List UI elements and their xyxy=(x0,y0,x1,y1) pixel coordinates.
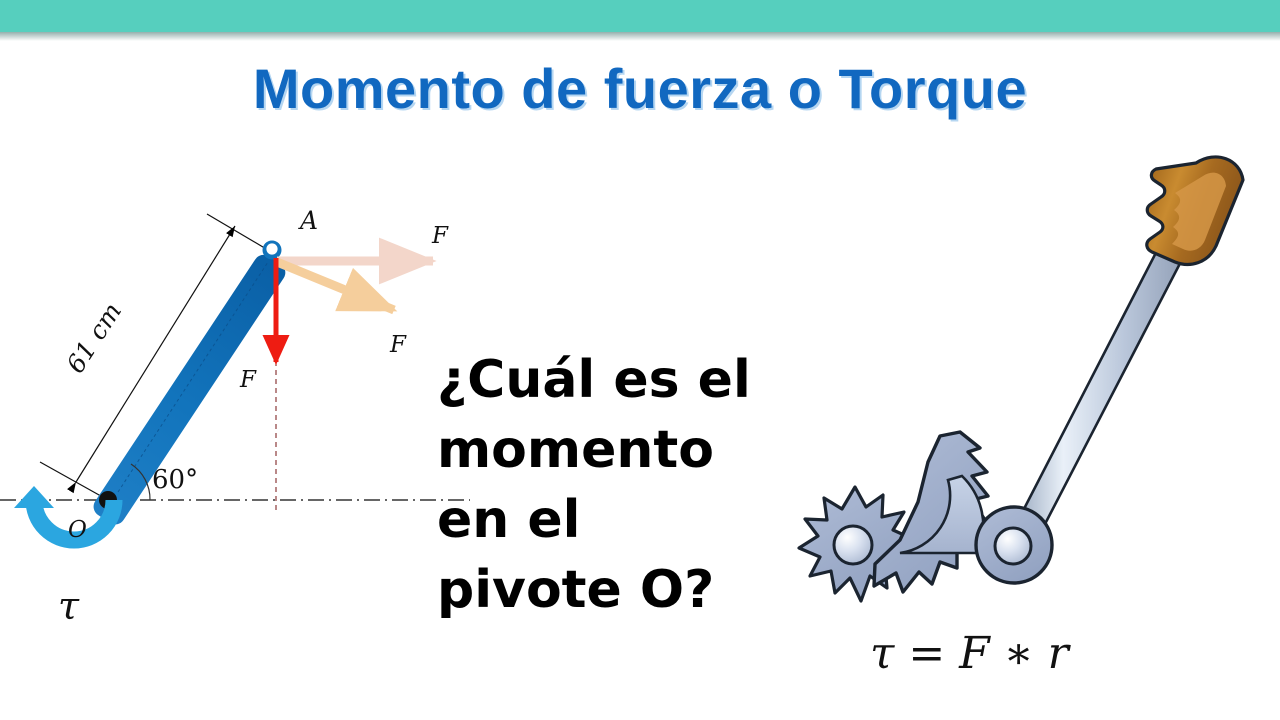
ratchet-gear xyxy=(874,432,988,592)
top-accent-bar-shadow xyxy=(0,32,1280,41)
pivot-point-o xyxy=(99,491,117,509)
label-bar-length: 61 cm xyxy=(61,298,128,379)
label-force-horizontal: F xyxy=(431,223,449,249)
dimension-extension-upper xyxy=(207,214,268,250)
question-line-1: ¿Cuál es el xyxy=(437,345,807,415)
question-line-2: momento xyxy=(437,415,807,485)
lever-shaft xyxy=(1009,206,1203,551)
star-gear xyxy=(799,487,913,601)
lever-bar xyxy=(90,241,289,529)
torque-formula: τ = F ∗ r xyxy=(870,628,1069,679)
wooden-handle xyxy=(1147,157,1243,264)
label-force-vertical: F xyxy=(239,367,257,393)
dimension-extension-lower xyxy=(40,462,108,500)
force-arrow-diagonal xyxy=(277,262,394,310)
pivot-hub xyxy=(976,507,1052,583)
question-line-3: en el xyxy=(437,485,807,555)
question-line-4: pivote O? xyxy=(437,555,807,625)
label-force-diagonal: F xyxy=(389,332,407,358)
label-point-a: A xyxy=(298,206,318,235)
label-torque-tau: τ xyxy=(58,584,80,628)
bar-end-hole xyxy=(266,243,277,254)
question-text: ¿Cuál es el momento en el pivote O? xyxy=(437,345,807,625)
top-accent-bar xyxy=(0,0,1280,32)
label-angle-60: 60° xyxy=(152,465,198,495)
page-title: Momento de fuerza o Torque xyxy=(0,56,1280,121)
torque-rotation-arrow xyxy=(14,486,114,540)
label-pivot-o: O xyxy=(68,517,87,543)
dimension-line-61cm xyxy=(76,226,235,482)
angle-arc-60 xyxy=(131,464,150,500)
slide-canvas: Momento de fuerza o Torque xyxy=(0,0,1280,720)
